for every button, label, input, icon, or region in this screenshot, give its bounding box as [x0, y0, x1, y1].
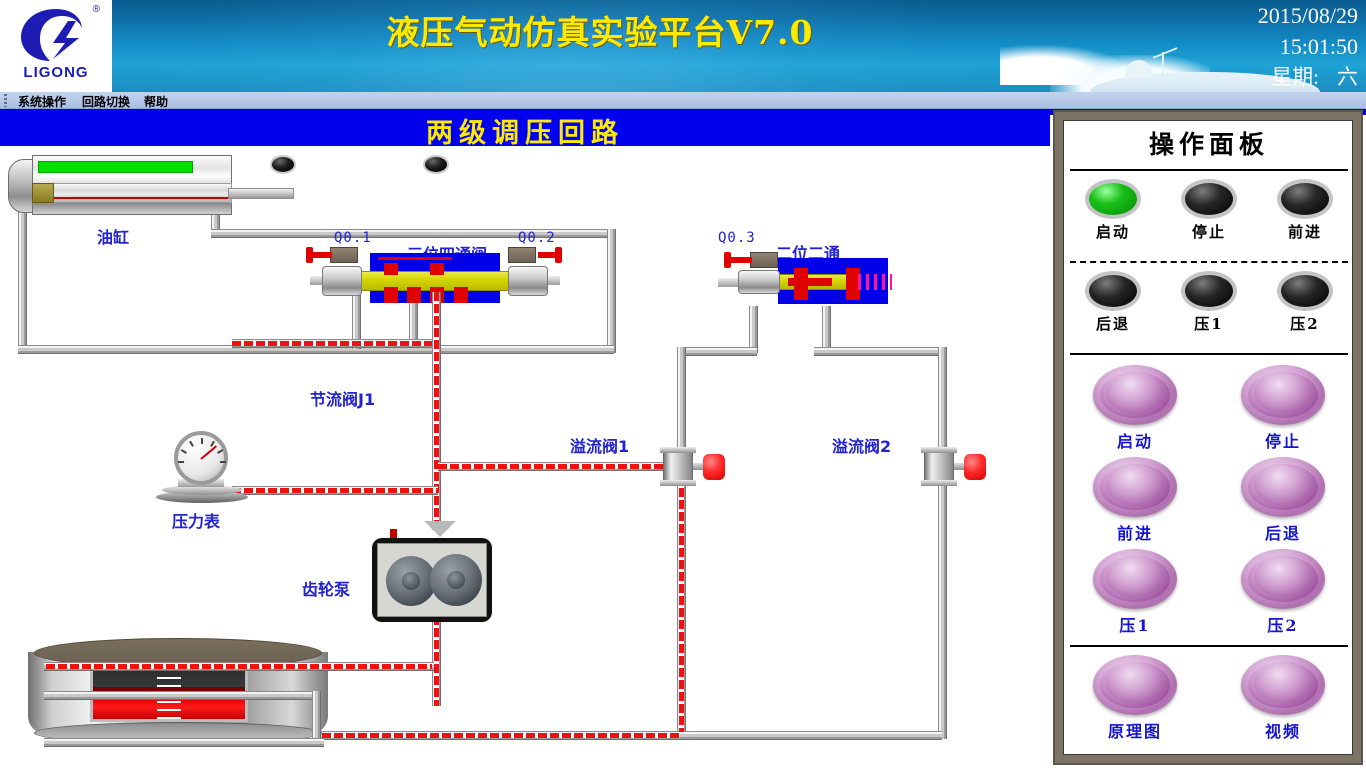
valve-2pos-2way[interactable]: [718, 256, 888, 308]
valve22-red-top: [794, 268, 808, 280]
valve22-red-bot-1: [794, 284, 808, 300]
control-panel: 操作面板 启动 停止 前进 后退 压1 压2 启动 停止 前进: [1063, 120, 1353, 755]
lamp-reverse-icon: [1089, 275, 1137, 307]
button-pressure2[interactable]: 压2: [1228, 549, 1338, 636]
label-gauge: 压力表: [172, 508, 220, 532]
valve43-red-bridge: [378, 257, 452, 260]
label-pump: 齿轮泵: [302, 576, 350, 600]
relief2-adjust-knob[interactable]: [964, 454, 986, 480]
valve43-end-right: [508, 266, 548, 296]
lamp-reverse-label: 后退: [1074, 313, 1152, 334]
menu-item-circuit-switch[interactable]: 回路切换: [78, 93, 134, 110]
button-forward[interactable]: 前进: [1080, 457, 1190, 544]
control-panel-title: 操作面板: [1064, 125, 1354, 161]
clock-widget: 2015/08/29 15:01:50 星期:六: [1098, 0, 1358, 92]
solenoid-q02-cap: [555, 247, 562, 263]
button-start-label: 启动: [1080, 428, 1190, 452]
panel-divider-2: [1070, 261, 1348, 263]
lamp-stop-icon: [1185, 183, 1233, 215]
menu-item-system-operation[interactable]: 系统操作: [14, 93, 70, 110]
throttle-cone-top: [424, 521, 456, 537]
pipe-v22-left-across: [677, 347, 757, 356]
solenoid-q02[interactable]: [508, 247, 536, 263]
button-start-icon[interactable]: [1093, 365, 1177, 425]
pipe-relief2-feed: [938, 347, 947, 739]
registered-mark-icon: ®: [93, 4, 100, 15]
clock-weekday-value: 六: [1337, 65, 1358, 89]
valve43-red-bot-2: [407, 287, 421, 303]
flow-gauge-line: [232, 488, 438, 493]
button-video-label: 视频: [1228, 718, 1338, 742]
pipe-v22-right-down: [822, 306, 831, 353]
flow-tank-return: [322, 733, 680, 738]
lamp-pressure1-label: 压1: [1170, 313, 1248, 334]
cylinder-oil-line: [38, 197, 232, 199]
lamp-forward: 前进: [1266, 183, 1344, 242]
lamp-pressure1-icon: [1185, 275, 1233, 307]
flow-tank-suction: [46, 664, 432, 669]
pipe-tank-return-riser: [312, 691, 321, 739]
valve43-red-top-2: [430, 263, 444, 275]
valve22-end-left: [738, 270, 780, 294]
label-relief1: 溢流阀1: [570, 433, 629, 457]
label-q03: Q0.3: [718, 230, 756, 246]
lamp-start-label: 启动: [1074, 221, 1152, 242]
flow-relief1-line: [438, 464, 678, 469]
panel-divider-3: [1070, 353, 1348, 355]
button-pressure2-label: 压2: [1228, 612, 1338, 636]
button-schematic-icon[interactable]: [1093, 655, 1177, 715]
label-throttle: 节流阀J1: [310, 386, 375, 410]
relief1-barrel: [663, 452, 693, 482]
pipe-v22-left-down: [749, 306, 758, 353]
valve43-red-top-1: [384, 263, 398, 275]
button-stop[interactable]: 停止: [1228, 365, 1338, 452]
button-reverse[interactable]: 后退: [1228, 457, 1338, 544]
pipe-tank-return-bottom: [44, 738, 324, 747]
clock-time: 15:01:50: [1098, 31, 1358, 62]
lamp-start: 启动: [1074, 183, 1152, 242]
gear-icon-left: [386, 556, 436, 606]
menu-item-help[interactable]: 帮助: [140, 93, 172, 110]
valve43-end-left: [322, 266, 362, 296]
hydraulic-cylinder: [8, 155, 280, 215]
lamp-pressure2-label: 压2: [1266, 313, 1344, 334]
lamp-stop-label: 停止: [1170, 221, 1248, 242]
lamp-pressure2-icon: [1281, 275, 1329, 307]
valve43-red-bot-4: [454, 287, 468, 303]
sensor-lamp-left-icon: [272, 157, 294, 172]
lamp-reverse: 后退: [1074, 275, 1152, 334]
gear-pump-window: [377, 543, 487, 617]
relief2-flange-bottom: [921, 480, 957, 486]
app-title: 液压气动仿真实验平台V7.0: [300, 6, 900, 54]
solenoid-q03[interactable]: [750, 252, 778, 268]
logo-brand-text: LIGONG: [0, 64, 112, 81]
button-stop-icon[interactable]: [1241, 365, 1325, 425]
clock-weekday: 星期:六: [1098, 62, 1358, 92]
button-pressure1-label: 压1: [1080, 612, 1190, 636]
pipe-v22-right-across: [814, 347, 946, 356]
solenoid-q01-cap: [306, 247, 313, 263]
gauge-dial: [174, 431, 228, 485]
lamp-start-icon: [1089, 183, 1137, 215]
sensor-lamp-right-icon: [425, 157, 447, 172]
cylinder-piston: [32, 183, 54, 203]
valve22-port-left: [718, 278, 740, 287]
solenoid-q01[interactable]: [330, 247, 358, 263]
relief2-flange-top: [921, 447, 957, 453]
app-header: ® LIGONG 液压气动仿真实验平台V7.0 2015/08/29 15:01…: [0, 0, 1366, 92]
lamp-forward-icon: [1281, 183, 1329, 215]
solenoid-q03-arm: [730, 257, 752, 263]
gear-icon-right: [430, 554, 482, 606]
valve43-red-bot-1: [384, 287, 398, 303]
lamp-pressure2: 压2: [1266, 275, 1344, 334]
panel-divider-4: [1070, 645, 1348, 647]
button-pressure2-icon[interactable]: [1241, 549, 1325, 609]
menu-grip-icon[interactable]: [4, 94, 7, 107]
menu-bar: 系统操作 回路切换 帮助: [0, 92, 1366, 109]
label-q01: Q0.1: [334, 230, 372, 246]
relief-valve-2[interactable]: [924, 446, 982, 488]
lamp-stop: 停止: [1170, 183, 1248, 242]
button-video[interactable]: 视频: [1228, 655, 1338, 742]
panel-divider-1: [1070, 169, 1348, 171]
button-forward-label: 前进: [1080, 520, 1190, 544]
clock-date: 2015/08/29: [1098, 0, 1358, 31]
flow-gauge-upper: [232, 341, 432, 346]
ligong-logo-icon: [16, 6, 96, 64]
circuit-title-bar: 两级调压回路: [0, 109, 1050, 146]
valve22-spring-icon: [858, 274, 892, 290]
solenoid-q03-cap: [724, 252, 731, 268]
button-stop-label: 停止: [1228, 428, 1338, 452]
button-reverse-label: 后退: [1228, 520, 1338, 544]
cylinder-rod: [228, 188, 294, 199]
button-pressure1[interactable]: 压1: [1080, 549, 1190, 636]
circuit-diagram: 油缸 Q0.1 Q0.2 三位四通阀 Q0.3 二位二通: [0, 146, 1050, 768]
cylinder-bore: [38, 183, 232, 203]
flow-relief1-drain: [679, 464, 684, 732]
button-video-icon[interactable]: [1241, 655, 1325, 715]
relief1-flange-bottom: [660, 480, 696, 486]
pipe-left-vertical: [18, 204, 27, 354]
gauge-needle: [200, 445, 217, 459]
button-schematic[interactable]: 原理图: [1080, 655, 1190, 742]
pressure-gauge: [160, 431, 244, 499]
relief1-adjust-knob[interactable]: [703, 454, 725, 480]
pipe-tank-return-mid: [44, 691, 321, 700]
pipe-right-loop-down: [607, 229, 616, 353]
button-forward-icon[interactable]: [1093, 457, 1177, 517]
button-pressure1-icon[interactable]: [1093, 549, 1177, 609]
gear-pump: [372, 538, 492, 622]
relief1-flange-top: [660, 447, 696, 453]
company-logo: ® LIGONG: [0, 0, 112, 92]
cylinder-stroke-indicator: [38, 161, 193, 173]
relief-valve-1[interactable]: [663, 446, 721, 488]
label-cylinder: 油缸: [97, 224, 129, 248]
clock-weekday-label: 星期:: [1271, 65, 1319, 89]
lamp-pressure1: 压1: [1170, 275, 1248, 334]
label-relief2: 溢流阀2: [832, 433, 891, 457]
button-reverse-icon[interactable]: [1241, 457, 1325, 517]
relief2-barrel: [924, 452, 954, 482]
solenoid-q01-arm: [310, 252, 332, 258]
button-schematic-label: 原理图: [1080, 718, 1190, 742]
lamp-forward-label: 前进: [1266, 221, 1344, 242]
button-start[interactable]: 启动: [1080, 365, 1190, 452]
circuit-title: 两级调压回路: [0, 111, 1050, 150]
label-q02: Q0.2: [518, 230, 556, 246]
